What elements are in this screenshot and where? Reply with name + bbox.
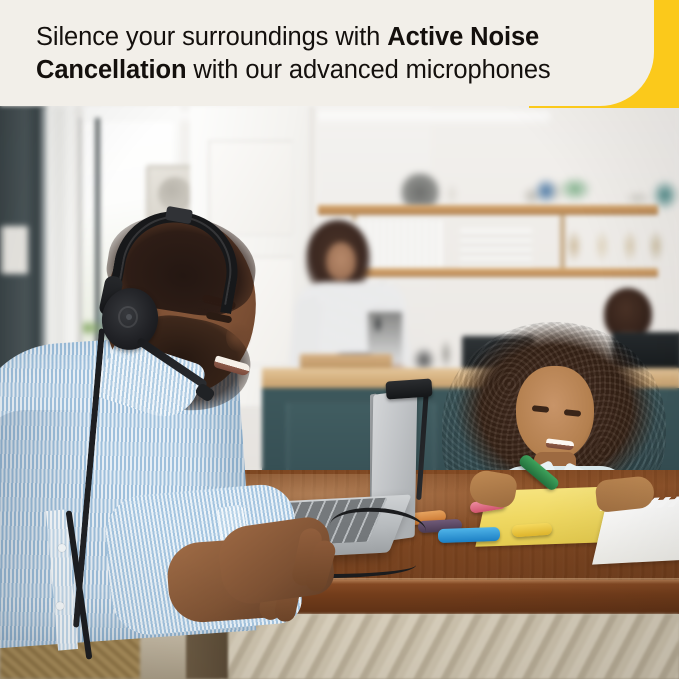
man-nose	[226, 322, 252, 352]
man-shirt-button-upper	[58, 544, 66, 552]
headset-earcup-center	[126, 314, 132, 320]
shelf-upper	[318, 205, 658, 215]
webcam	[385, 378, 432, 399]
headline-text: Silence your surroundings with Active No…	[36, 21, 636, 87]
shelf-items-upper	[320, 168, 660, 208]
wall-clock-face	[158, 177, 192, 211]
man-with-headset	[0, 210, 320, 640]
shelf-green-item	[558, 176, 592, 202]
shelf-dish-stack	[460, 228, 532, 268]
woman-face	[326, 242, 356, 280]
shelf-pan	[400, 172, 440, 206]
man-shirt-button-lower	[56, 602, 64, 610]
shelf-blue-item	[534, 178, 558, 204]
ceiling-line	[120, 112, 550, 126]
headline-segment-0: Silence your surroundings with	[36, 23, 387, 51]
crayon-blue	[438, 527, 500, 543]
headline-segment-2: with our advanced microphones	[186, 56, 550, 84]
shelf-jars	[560, 222, 670, 270]
product-image: Silence your surroundings with Active No…	[0, 0, 679, 679]
